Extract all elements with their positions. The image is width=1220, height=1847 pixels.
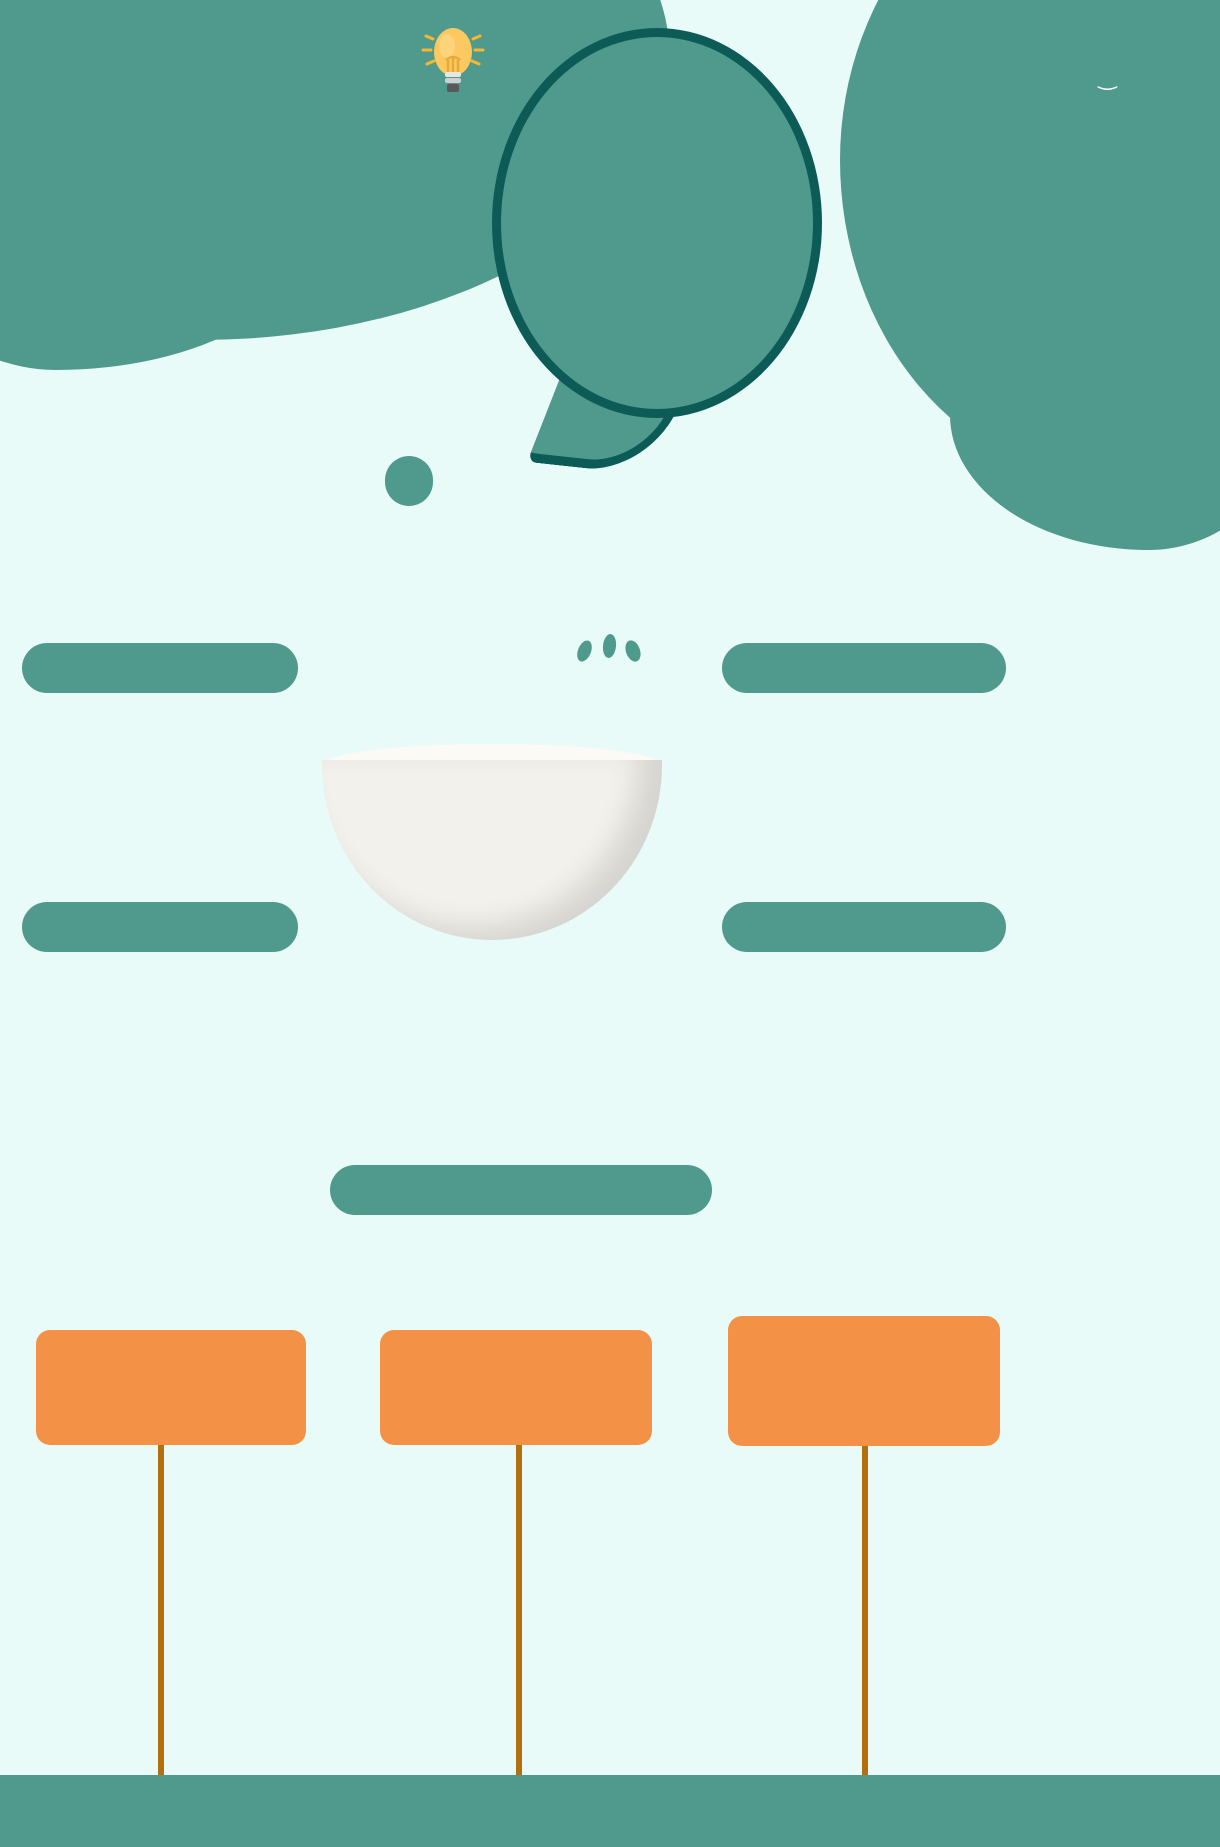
pill-supports-pregnancy[interactable]: [722, 643, 1006, 693]
blood-pressure-text: [60, 1218, 1160, 1230]
heart-health-text: [18, 958, 348, 964]
digestive-health-text: [733, 958, 1001, 964]
brand-smile-icon: ‿: [1015, 72, 1200, 84]
cooling-effect-text: [18, 700, 334, 706]
pill-digestive-health[interactable]: [722, 902, 1006, 952]
infographic-poster: ‿: [0, 0, 1220, 1847]
background-blob-top-left-2: [0, 40, 320, 370]
lightbulb-icon: [418, 20, 488, 102]
preparation-tips: [26, 18, 416, 25]
background-blob-top-right-2: [950, 250, 1220, 550]
type-card-stem-2: [516, 1445, 522, 1775]
pill-blood-pressure-management[interactable]: [330, 1165, 712, 1215]
antioxidants-text: [140, 512, 930, 522]
type-card-whole-green-gram[interactable]: [36, 1330, 306, 1445]
pregnancy-text: [730, 700, 1000, 706]
bowl-body: [322, 760, 662, 940]
type-card-stem-1: [158, 1445, 164, 1775]
footer-types-of-green-gram: [0, 1775, 1220, 1847]
bowl-of-green-gram-image: [300, 640, 730, 1160]
pill-heart-health[interactable]: [22, 902, 298, 952]
type-card-split-green-gram[interactable]: [380, 1330, 652, 1445]
pill-cooling-effect[interactable]: [22, 643, 298, 693]
type-card-split-green-gram-dehusked[interactable]: [728, 1316, 1000, 1446]
type-card-stem-3: [862, 1445, 868, 1775]
brand-logo: ‿: [1015, 72, 1200, 84]
pill-rich-in-antioxidants[interactable]: [385, 456, 433, 506]
title-speech-bubble: [492, 28, 822, 418]
